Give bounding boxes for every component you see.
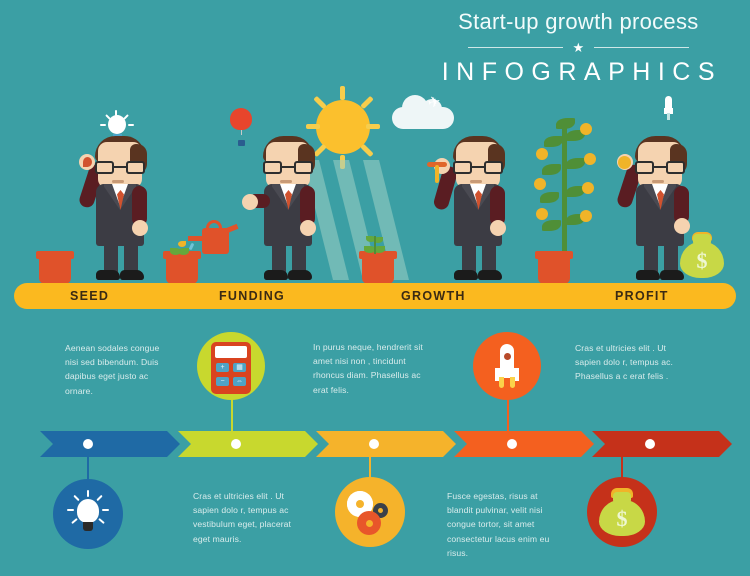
pot-empty-1 xyxy=(39,256,71,284)
page-subtitle: INFOGRAPHICS xyxy=(435,58,722,87)
step-text-2: Cras et ultricies elit . Ut sapien dolo … xyxy=(193,489,297,546)
calculator-body: + ▦ − ⇔ xyxy=(211,342,251,394)
stage-label-growth: GROWTH xyxy=(401,289,466,303)
money-tree xyxy=(520,120,610,270)
timeline-dot-1 xyxy=(83,439,93,449)
calc-button-2[interactable]: ▦ xyxy=(233,363,246,372)
dollar-sign: $ xyxy=(680,248,724,274)
timeline-arrow-5[interactable] xyxy=(592,431,732,457)
picked-coin-icon xyxy=(618,156,631,169)
businessman-funding xyxy=(230,128,348,278)
sky-rocket-icon xyxy=(664,96,673,120)
pot-tree xyxy=(538,256,570,284)
divider-line-left xyxy=(468,47,563,48)
timeline-arrow-1[interactable] xyxy=(40,431,180,457)
cloud-icon xyxy=(392,107,454,129)
step-text-1: Aenean sodales congue nisi sed bibendum.… xyxy=(65,341,169,398)
page-title: Start-up growth process xyxy=(435,10,722,34)
stage-label-funding: FUNDING xyxy=(219,289,285,303)
sprout-icon-2 xyxy=(363,232,389,252)
pot-sprout-2 xyxy=(362,256,394,284)
calc-button-3[interactable]: − xyxy=(216,377,229,386)
step-icon-calculator[interactable]: + ▦ − ⇔ xyxy=(197,332,265,400)
header: Start-up growth process ★ INFOGRAPHICS xyxy=(435,10,722,87)
pot-sprout-1 xyxy=(166,256,198,284)
connector-stem-4 xyxy=(507,398,509,434)
connector-stem-2 xyxy=(231,398,233,434)
step-text-5: Cras et ultricies elit . Ut sapien dolo … xyxy=(575,341,685,384)
calc-button-4[interactable]: ⇔ xyxy=(233,377,246,386)
dollar-sign-small: $ xyxy=(599,506,645,532)
timeline-arrow-2[interactable] xyxy=(178,431,318,457)
stage-label-seed: SEED xyxy=(70,289,109,303)
infographic-canvas: Start-up growth process ★ INFOGRAPHICS ✈ xyxy=(0,0,750,576)
sprout-icon-1 xyxy=(170,240,196,260)
step-icon-money-bag[interactable]: $ xyxy=(587,477,657,547)
step-text-3: In purus neque, hendrerit sit amet nisi … xyxy=(313,340,423,397)
airplane-icon: ✈ xyxy=(427,94,442,111)
connector-stem-1 xyxy=(87,449,89,481)
seed-icon xyxy=(83,157,92,167)
step-icon-rocket[interactable] xyxy=(473,332,541,400)
money-bag-icon-large: $ xyxy=(680,232,724,276)
connector-stem-3 xyxy=(369,449,371,479)
timeline-dot-3 xyxy=(369,439,379,449)
step-text-4: Fusce egestas, risus at blandit pulvinar… xyxy=(447,489,553,560)
timeline-dot-5 xyxy=(645,439,655,449)
stage-label-profit: PROFIT xyxy=(615,289,669,303)
calc-button-1[interactable]: + xyxy=(216,363,229,372)
star-icon: ★ xyxy=(573,41,585,54)
divider-line-right xyxy=(594,47,689,48)
step-icon-gears[interactable] xyxy=(335,477,405,547)
step-icon-lightbulb[interactable] xyxy=(53,479,123,549)
title-divider: ★ xyxy=(435,41,722,54)
connector-stem-5 xyxy=(621,449,623,479)
timeline-dot-4 xyxy=(507,439,517,449)
timeline-arrow-3[interactable] xyxy=(316,431,456,457)
timeline-arrow-4[interactable] xyxy=(454,431,594,457)
timeline-dot-2 xyxy=(231,439,241,449)
